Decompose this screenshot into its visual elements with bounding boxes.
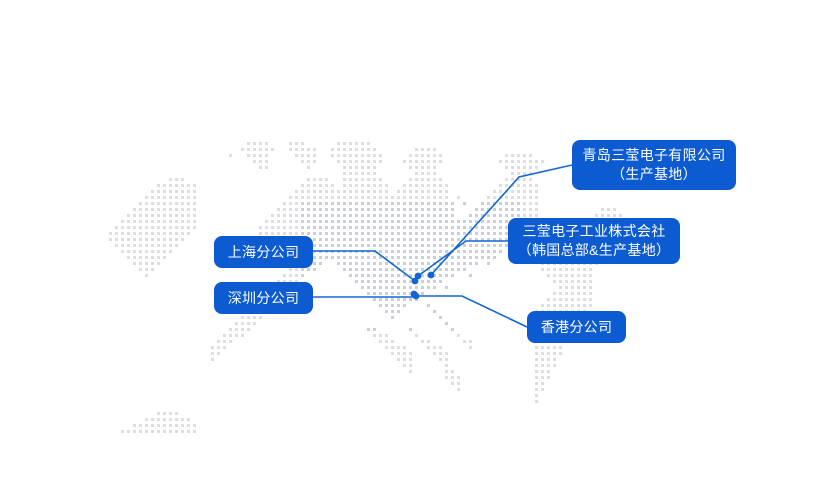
label-hongkong[interactable]: 香港分公司 bbox=[527, 311, 626, 343]
label-shenzhen[interactable]: 深圳分公司 bbox=[214, 282, 313, 314]
label-korea-hq-line1: 三莹电子工业株式会社 bbox=[523, 222, 666, 241]
label-shenzhen-line1: 深圳分公司 bbox=[228, 289, 300, 308]
label-qingdao-line1: 青岛三莹电子有限公司 bbox=[583, 146, 726, 165]
label-hongkong-line1: 香港分公司 bbox=[541, 318, 613, 337]
label-korea-hq-line2: （韩国总部&生产基地） bbox=[518, 241, 671, 260]
marker-hongkong[interactable] bbox=[413, 293, 420, 300]
map-canvas: 青岛三莹电子有限公司 （生产基地） 三莹电子工业株式会社 （韩国总部&生产基地）… bbox=[0, 0, 824, 480]
label-shanghai-line1: 上海分公司 bbox=[228, 243, 300, 262]
label-qingdao[interactable]: 青岛三莹电子有限公司 （生产基地） bbox=[572, 140, 736, 190]
label-korea-hq[interactable]: 三莹电子工业株式会社 （韩国总部&生产基地） bbox=[508, 218, 680, 264]
label-shanghai[interactable]: 上海分公司 bbox=[214, 236, 313, 268]
marker-shanghai[interactable] bbox=[412, 278, 419, 285]
label-qingdao-line2: （生产基地） bbox=[611, 165, 697, 184]
location-markers bbox=[0, 0, 824, 480]
marker-qingdao[interactable] bbox=[428, 272, 435, 279]
